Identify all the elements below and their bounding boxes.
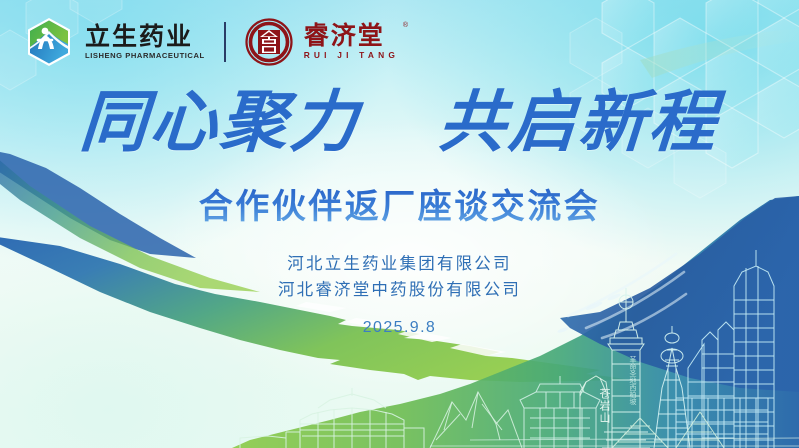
ruijitang-seal-logo-icon xyxy=(245,18,293,66)
ruijitang-wordmark: 睿济堂 RUI JI TANG ® xyxy=(304,24,399,59)
lisheng-name-cn: 立生药业 xyxy=(85,25,205,50)
event-date: 2025.9.8 xyxy=(0,319,799,337)
logo-divider xyxy=(224,22,226,62)
monument-inscription-text: 革命圣地西柏坡 xyxy=(624,356,636,405)
organizer-line-1: 河北立生药业集团有限公司 xyxy=(0,252,799,278)
mountain-label-text: 苍岩山 xyxy=(597,388,610,424)
poster-headline: 同心聚力 共启新程 xyxy=(0,88,799,155)
registered-trademark-icon: ® xyxy=(403,22,408,29)
organizer-line-2: 河北睿济堂中药股份有限公司 xyxy=(0,278,799,304)
poster-subtitle: 合作伙伴返厂座谈交流会 xyxy=(0,186,799,229)
organizer-block: 河北立生药业集团有限公司 河北睿济堂中药股份有限公司 2025.9.8 xyxy=(0,252,799,337)
headline-part-left: 同心聚力 xyxy=(77,82,363,161)
headline-part-right: 共启新程 xyxy=(436,82,722,161)
lisheng-name-en: LISHENG PHARMACEUTICAL xyxy=(85,52,205,60)
lisheng-wordmark: 立生药业 LISHENG PHARMACEUTICAL xyxy=(85,25,205,60)
ruijitang-name-en: RUI JI TANG xyxy=(304,51,399,59)
ruijitang-name-cn: 睿济堂 xyxy=(304,24,399,49)
logo-bar: 立生药业 LISHENG PHARMACEUTICAL 睿济堂 RUI JI T… xyxy=(24,16,399,68)
lisheng-hexagon-logo-icon xyxy=(24,16,74,68)
event-banner: 革命圣地西柏坡 苍岩山 xyxy=(0,0,799,448)
